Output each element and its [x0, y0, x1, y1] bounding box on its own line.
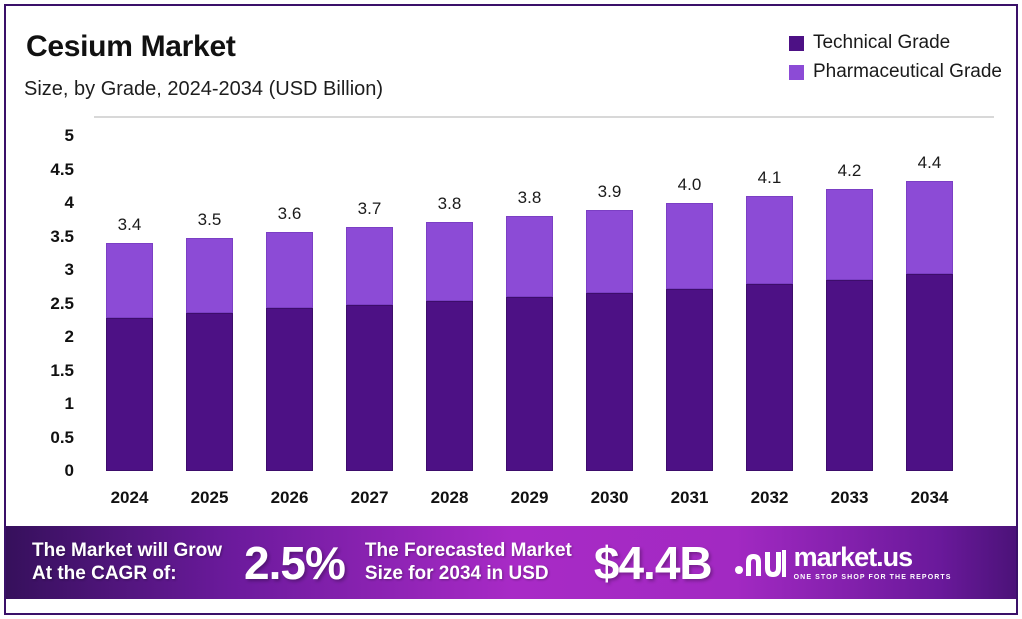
page-title: Cesium Market — [26, 30, 236, 64]
y-axis-tick: 5 — [16, 126, 74, 146]
bar-group[interactable]: 4.4 — [906, 181, 953, 471]
x-axis-baseline — [94, 116, 994, 118]
bar-value-label: 4.0 — [650, 175, 730, 195]
logo-tagline: ONE STOP SHOP FOR THE REPORTS — [794, 574, 952, 581]
y-axis-tick: 3.5 — [16, 227, 74, 247]
bar-segment-pharmaceutical[interactable] — [506, 216, 553, 297]
y-axis-tick: 1 — [16, 394, 74, 414]
bar-value-label: 3.4 — [90, 215, 170, 235]
x-axis-tick: 2031 — [645, 488, 735, 508]
bar-value-label: 3.6 — [250, 204, 330, 224]
plot-area: 00.511.522.533.544.55 3.43.53.63.73.83.8… — [6, 116, 1018, 521]
y-axis-tick: 0.5 — [16, 428, 74, 448]
y-axis-tick: 2.5 — [16, 294, 74, 314]
y-axis-tick: 2 — [16, 327, 74, 347]
bar-segment-technical[interactable] — [746, 284, 793, 471]
bar-value-label: 3.7 — [330, 199, 410, 219]
bar-segment-technical[interactable] — [346, 305, 393, 471]
bar-segment-technical[interactable] — [186, 313, 233, 471]
bar-segment-technical[interactable] — [266, 308, 313, 471]
bar-group[interactable]: 3.7 — [346, 227, 393, 471]
bar-value-label: 4.2 — [810, 161, 890, 181]
bar-segment-technical[interactable] — [906, 274, 953, 471]
legend-swatch-technical — [789, 36, 804, 51]
x-axis-tick: 2029 — [485, 488, 575, 508]
bar-segment-technical[interactable] — [506, 297, 553, 471]
forecast-caption-line1: The Forecasted Market — [365, 540, 572, 563]
bar-segment-pharmaceutical[interactable] — [426, 222, 473, 301]
bar-group[interactable]: 4.1 — [746, 196, 793, 471]
bar-segment-pharmaceutical[interactable] — [746, 196, 793, 284]
bar-segment-pharmaceutical[interactable] — [906, 181, 953, 274]
x-axis-tick: 2030 — [565, 488, 655, 508]
cagr-caption: The Market will Grow At the CAGR of: — [32, 540, 222, 586]
bar-value-label: 3.9 — [570, 182, 650, 202]
market-us-logo[interactable]: market.us ONE STOP SHOP FOR THE REPORTS — [734, 544, 952, 581]
y-axis-tick: 4 — [16, 193, 74, 213]
logo-mark-icon — [734, 546, 786, 580]
legend-item-pharmaceutical: Pharmaceutical Grade — [789, 61, 1002, 83]
bar-value-label: 4.4 — [890, 153, 970, 173]
bar-segment-pharmaceutical[interactable] — [186, 238, 233, 313]
y-axis-tick: 0 — [16, 461, 74, 481]
x-axis-tick: 2027 — [325, 488, 415, 508]
chart-subtitle: Size, by Grade, 2024-2034 (USD Billion) — [24, 78, 383, 101]
logo-wordmark: market.us — [794, 544, 952, 571]
bar-group[interactable]: 3.8 — [506, 216, 553, 471]
chart-card: Cesium Market Size, by Grade, 2024-2034 … — [4, 4, 1018, 615]
bar-group[interactable]: 4.0 — [666, 203, 713, 471]
forecast-caption-line2: Size for 2034 in USD — [365, 563, 572, 586]
y-axis-tick: 4.5 — [16, 160, 74, 180]
bar-segment-pharmaceutical[interactable] — [346, 227, 393, 305]
chart-header: Cesium Market Size, by Grade, 2024-2034 … — [6, 6, 1016, 116]
bar-segment-technical[interactable] — [586, 293, 633, 471]
summary-banner: The Market will Grow At the CAGR of: 2.5… — [6, 526, 1018, 599]
forecast-value: $4.4B — [594, 536, 712, 590]
bar-segment-pharmaceutical[interactable] — [266, 232, 313, 308]
bar-value-label: 3.5 — [170, 210, 250, 230]
bar-value-label: 3.8 — [410, 194, 490, 214]
bar-segment-technical[interactable] — [106, 318, 153, 471]
bar-segment-pharmaceutical[interactable] — [586, 210, 633, 293]
bar-group[interactable]: 3.6 — [266, 232, 313, 471]
x-axis-tick: 2026 — [245, 488, 335, 508]
bar-group[interactable]: 3.5 — [186, 238, 233, 471]
logo-text: market.us ONE STOP SHOP FOR THE REPORTS — [794, 544, 952, 581]
x-axis-tick: 2024 — [85, 488, 175, 508]
y-axis-tick: 3 — [16, 260, 74, 280]
bar-group[interactable]: 3.9 — [586, 210, 633, 471]
bar-segment-pharmaceutical[interactable] — [106, 243, 153, 317]
chart-legend: Technical Grade Pharmaceutical Grade — [789, 32, 1002, 83]
cagr-caption-line1: The Market will Grow — [32, 540, 222, 563]
bar-segment-pharmaceutical[interactable] — [826, 189, 873, 280]
bar-segment-technical[interactable] — [666, 289, 713, 471]
x-axis-tick: 2034 — [885, 488, 975, 508]
bar-segment-technical[interactable] — [426, 301, 473, 471]
cagr-value: 2.5% — [244, 536, 345, 590]
cagr-caption-line2: At the CAGR of: — [32, 563, 222, 586]
bar-group[interactable]: 4.2 — [826, 189, 873, 471]
bar-group[interactable]: 3.8 — [426, 222, 473, 471]
bar-value-label: 4.1 — [730, 168, 810, 188]
forecast-caption: The Forecasted Market Size for 2034 in U… — [365, 540, 572, 586]
x-axis-tick: 2033 — [805, 488, 895, 508]
x-axis-tick: 2025 — [165, 488, 255, 508]
legend-label-technical: Technical Grade — [813, 32, 950, 54]
bar-segment-technical[interactable] — [826, 280, 873, 471]
y-axis-tick: 1.5 — [16, 361, 74, 381]
legend-label-pharmaceutical: Pharmaceutical Grade — [813, 61, 1002, 83]
x-axis-tick: 2028 — [405, 488, 495, 508]
x-axis-tick: 2032 — [725, 488, 815, 508]
bar-value-label: 3.8 — [490, 188, 570, 208]
bar-group[interactable]: 3.4 — [106, 243, 153, 471]
legend-swatch-pharmaceutical — [789, 65, 804, 80]
legend-item-technical: Technical Grade — [789, 32, 950, 54]
bar-segment-pharmaceutical[interactable] — [666, 203, 713, 289]
